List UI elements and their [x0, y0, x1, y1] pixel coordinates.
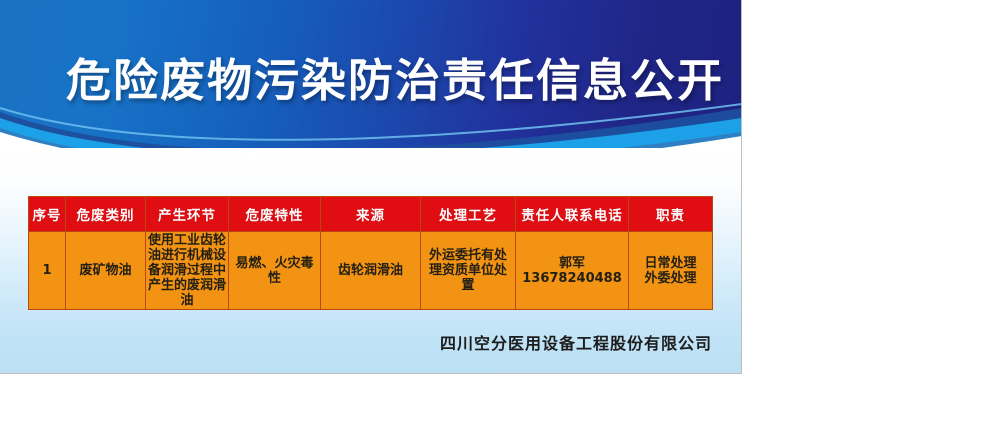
column-header-treatment: 处理工艺: [421, 197, 516, 232]
poster-header-banner: 危险废物污染防治责任信息公开: [0, 0, 742, 152]
cell-duty: 日常处理外委处理: [629, 232, 713, 310]
hazardous-waste-table-wrapper: 序号 危废类别 产生环节 危废特性 来源 处理工艺 责任人联系电话 职责 1 废…: [28, 196, 712, 307]
hazardous-waste-table: 序号 危废类别 产生环节 危废特性 来源 处理工艺 责任人联系电话 职责 1 废…: [28, 196, 713, 310]
company-name: 四川空分医用设备工程股份有限公司: [0, 330, 712, 354]
column-header-contact: 责任人联系电话: [516, 197, 629, 232]
cell-source: 齿轮润滑油: [321, 232, 421, 310]
cell-index: 1: [29, 232, 66, 310]
column-header-index: 序号: [29, 197, 66, 232]
cell-generation-stage: 使用工业齿轮油进行机械设备润滑过程中产生的废润滑油: [146, 232, 229, 310]
column-header-stage: 产生环节: [146, 197, 229, 232]
cell-characteristics: 易燃、火灾毒性: [229, 232, 321, 310]
column-header-duty: 职责: [629, 197, 713, 232]
column-header-category: 危废类别: [66, 197, 146, 232]
poster-title: 危险废物污染防治责任信息公开: [66, 52, 726, 110]
table-row: 1 废矿物油 使用工业齿轮油进行机械设备润滑过程中产生的废润滑油 易燃、火灾毒性…: [29, 232, 713, 310]
column-header-characteristics: 危废特性: [229, 197, 321, 232]
cell-category: 废矿物油: [66, 232, 146, 310]
information-disclosure-poster: 危险废物污染防治责任信息公开 序号 危废类别 产生环节 危废特性: [0, 0, 742, 374]
cell-treatment-process: 外运委托有处理资质单位处置: [421, 232, 516, 310]
cell-responsible-contact: 郭军13678240488: [516, 232, 629, 310]
table-header-row: 序号 危废类别 产生环节 危废特性 来源 处理工艺 责任人联系电话 职责: [29, 197, 713, 232]
column-header-source: 来源: [321, 197, 421, 232]
